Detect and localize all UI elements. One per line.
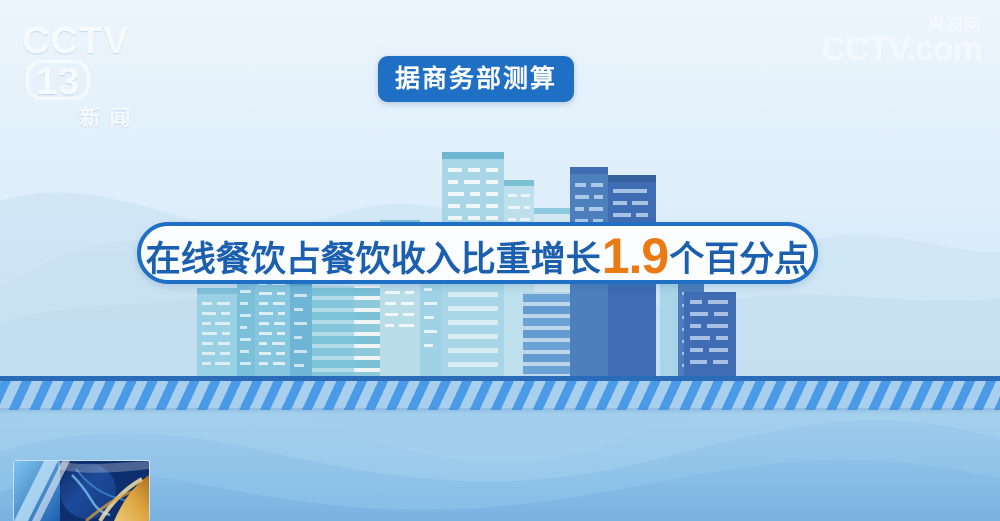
building-tower-3	[255, 270, 290, 380]
cctv13-channel-logo: CCTV 13 新闻	[22, 22, 197, 88]
building-tower-2	[237, 277, 255, 380]
window-pattern	[197, 288, 237, 380]
headline-suffix: 个百分点	[669, 242, 809, 277]
cctv-logo-sub: 新闻	[22, 102, 197, 132]
headline: 在线餐饮占餐饮收入比重增长 1.9 个百分点	[146, 229, 810, 279]
news-lower-third-globe-graphic	[14, 461, 149, 521]
globe-graphic	[14, 461, 149, 521]
cctv-logo-number: 13	[26, 60, 90, 100]
building-tower-1	[197, 288, 237, 380]
window-pattern	[255, 270, 290, 380]
ground-shadow	[0, 408, 1000, 414]
watermark-dotcom: .com	[907, 30, 982, 68]
building-tower-16	[684, 292, 736, 380]
broadcast-screen: CCTV 13 新闻 央视网 CCTV.com 据商务部测算 在线餐饮占餐饮收入…	[0, 0, 1000, 521]
source-badge: 据商务部测算	[378, 56, 574, 102]
building-tower-14	[660, 280, 678, 380]
window-pattern	[684, 292, 736, 380]
striped-ground-band	[0, 376, 1000, 410]
building-tower-4	[290, 280, 312, 380]
headline-prefix: 在线餐饮占餐饮收入比重增长	[146, 242, 601, 277]
source-badge-label: 据商务部测算	[395, 67, 557, 92]
watermark-cctv: CCTV	[821, 30, 906, 68]
headline-value: 1.9	[602, 231, 669, 281]
cctv-logo-text: CCTV	[22, 20, 129, 62]
headline-capsule: 在线餐饮占餐饮收入比重增长 1.9 个百分点	[137, 222, 818, 284]
window-pattern	[290, 280, 312, 380]
window-pattern	[237, 277, 255, 380]
cctv-com-watermark: 央视网 CCTV.com	[821, 18, 982, 64]
